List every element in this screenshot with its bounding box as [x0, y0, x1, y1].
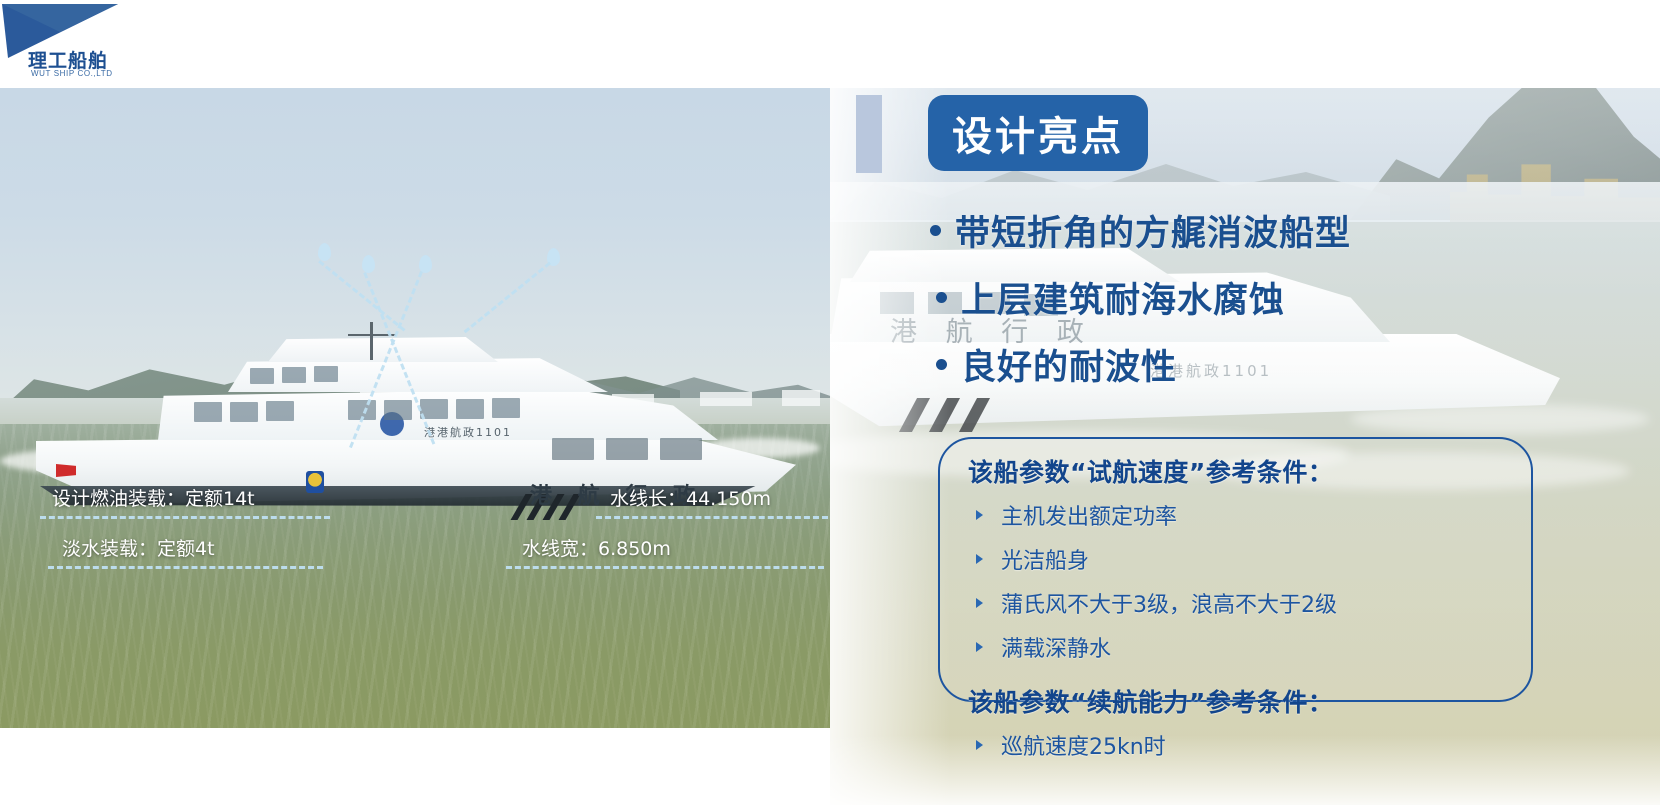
- design-highlights-list: 带短折角的方艉消波船型 上层建筑耐海水腐蚀 良好的耐波性: [930, 205, 1630, 406]
- photo-vessel-window: [456, 399, 484, 419]
- arrow-bullet-icon: [976, 598, 983, 608]
- endurance-heading: 该船参数“续航能力”参考条件：: [968, 683, 1538, 719]
- arrow-bullet-icon: [976, 554, 983, 564]
- page-title-badge: 设计亮点: [928, 95, 1148, 171]
- trial-speed-heading: 该船参数“试航速度”参考条件：: [968, 453, 1538, 489]
- photo-vessel-window: [660, 438, 702, 460]
- highlight-label: 良好的耐波性: [961, 339, 1177, 390]
- title-accent-bar: [856, 95, 882, 173]
- arrow-bullet-icon: [976, 740, 983, 750]
- photo-vessel-window: [250, 368, 274, 384]
- bullet-dot-icon: [930, 225, 941, 236]
- arrow-bullet-icon: [976, 510, 983, 520]
- photo-vessel-mast-arm: [348, 334, 396, 336]
- highlight-label: 上层建筑耐海水腐蚀: [961, 272, 1285, 323]
- page-title: 设计亮点: [952, 104, 1124, 162]
- condition-row: 蒲氏风不大于3级，浪高不大于2级: [976, 587, 1538, 619]
- photo-vessel: 港 航 行 政 港港航政1101: [18, 328, 818, 518]
- vessel-photo: 港 航 行 政 港港航政1101: [0, 88, 830, 728]
- condition-label: 主机发出额定功率: [1001, 499, 1177, 531]
- photo-vessel-window: [194, 402, 222, 422]
- photo-vessel-window: [552, 438, 594, 460]
- parameter-conditions-content: 该船参数“试航速度”参考条件： 主机发出额定功率 光洁船身 蒲氏风不大于3级，浪…: [968, 445, 1538, 773]
- bullet-dot-icon: [936, 359, 947, 370]
- photo-ship-name-small: 港港航政1101: [424, 424, 512, 440]
- condition-row: 主机发出额定功率: [976, 499, 1538, 531]
- highlight-item: 良好的耐波性: [936, 339, 1630, 390]
- header-bar: 理工船舶 WUT SHIP CO.,LTD: [0, 0, 1660, 88]
- photo-vessel-window: [230, 402, 258, 422]
- photo-vessel-window: [314, 366, 338, 382]
- photo-vessel-window: [384, 400, 412, 420]
- condition-row: 巡航速度25kn时: [976, 729, 1538, 761]
- photo-vessel-flag-icon: [56, 464, 76, 477]
- photo-vessel-window: [492, 398, 520, 418]
- highlight-label: 带短折角的方艉消波船型: [955, 205, 1351, 256]
- photo-vessel-bridge: [268, 336, 498, 362]
- highlight-item: 带短折角的方艉消波船型: [930, 205, 1630, 256]
- highlight-item: 上层建筑耐海水腐蚀: [936, 272, 1630, 323]
- condition-label: 光洁船身: [1001, 543, 1089, 575]
- condition-row: 光洁船身: [976, 543, 1538, 575]
- photo-vessel-window: [606, 438, 648, 460]
- slide-canvas: 港 航 行 政 港港航政1101 设计亮点 带短折角的方艉消波船型 上层建筑耐海…: [0, 0, 1660, 805]
- condition-label: 蒲氏风不大于3级，浪高不大于2级: [1001, 587, 1337, 619]
- brand-logo[interactable]: 理工船舶 WUT SHIP CO.,LTD: [0, 0, 190, 88]
- photo-vessel-window: [282, 367, 306, 383]
- condition-label: 巡航速度25kn时: [1001, 729, 1166, 761]
- brand-name-en: WUT SHIP CO.,LTD: [31, 69, 113, 78]
- photo-ship-name: 港 航 行 政: [530, 478, 704, 510]
- arrow-bullet-icon: [976, 642, 983, 652]
- photo-vessel-crest-icon: [306, 471, 324, 493]
- condition-label: 满载深静水: [1001, 631, 1111, 663]
- photo-vessel-window: [348, 400, 376, 420]
- condition-row: 满载深静水: [976, 631, 1538, 663]
- photo-vessel-window: [420, 399, 448, 419]
- photo-vessel-window: [266, 401, 294, 421]
- bullet-dot-icon: [936, 292, 947, 303]
- photo-vessel-mast: [370, 322, 373, 360]
